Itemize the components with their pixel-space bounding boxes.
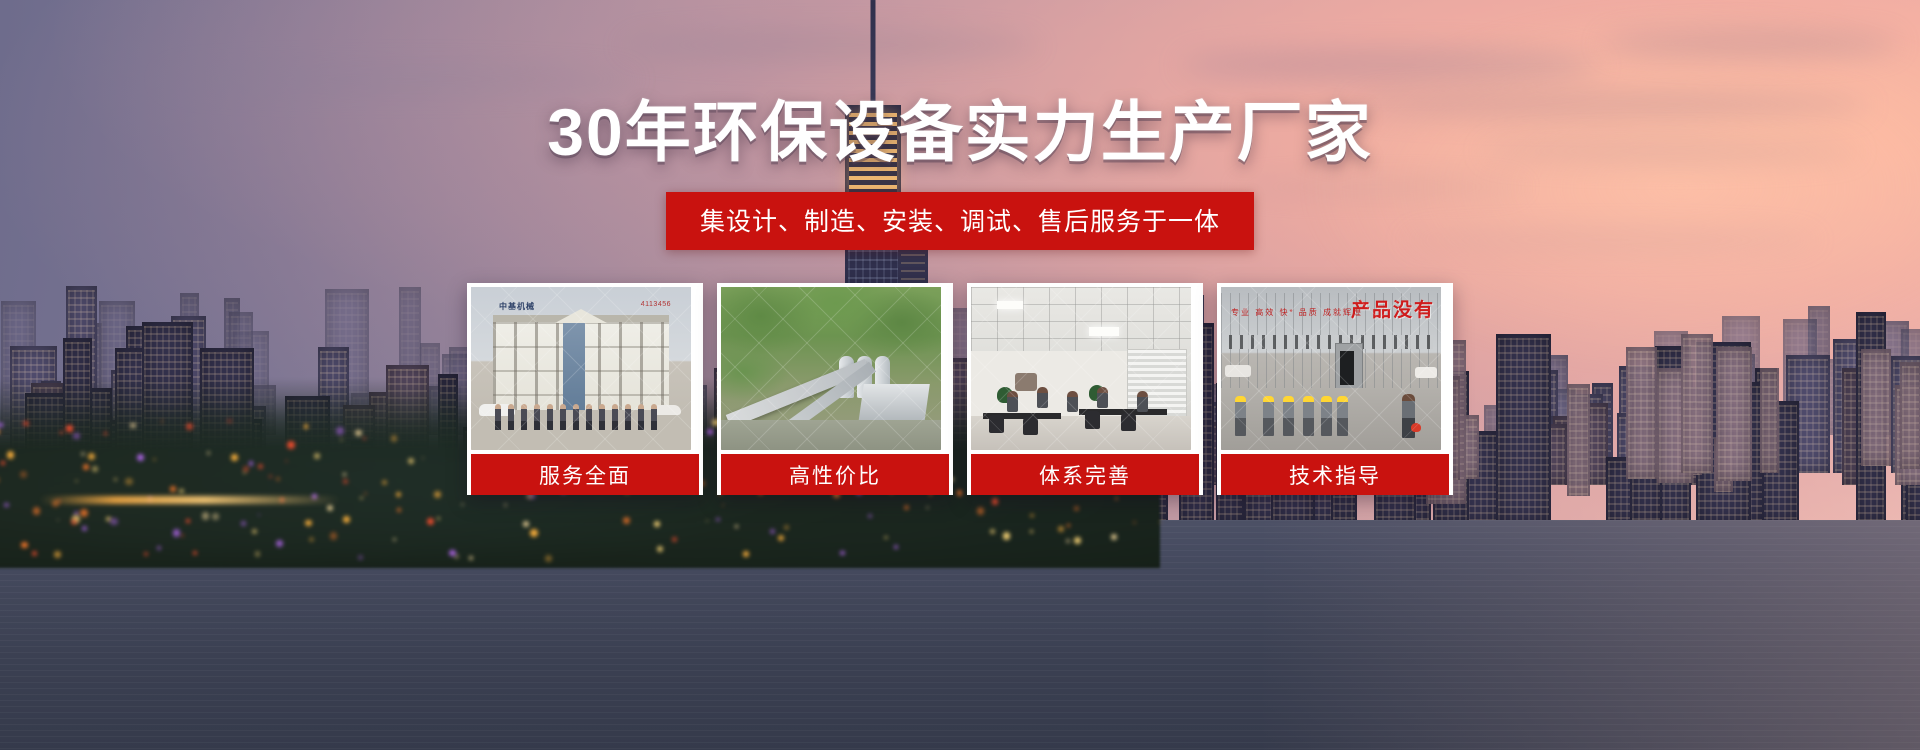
office-chair (989, 415, 1004, 433)
shore-light (241, 521, 245, 525)
shore-light (193, 551, 197, 555)
page-title: 30年环保设备实力生产厂家 (0, 99, 1920, 165)
staff-member (534, 404, 540, 430)
shore-light (355, 430, 362, 437)
shore-light (173, 529, 181, 537)
shore-light (358, 555, 363, 560)
shore-light (276, 477, 280, 481)
shore-light (530, 529, 538, 537)
red-helmet-icon (1411, 423, 1421, 432)
seated-person (1067, 391, 1078, 412)
feature-card-system[interactable]: 体系完善 (967, 283, 1203, 495)
seated-person (1037, 387, 1048, 408)
shore-light (743, 551, 749, 557)
shore-light (545, 555, 552, 562)
shore-light (71, 519, 77, 525)
parked-truck (1225, 365, 1251, 377)
shore-light (305, 520, 311, 526)
factory-vents (1229, 335, 1433, 349)
feature-card-value[interactable]: 高性价比 (717, 283, 953, 495)
shore-light (186, 423, 193, 430)
shore-light (330, 532, 338, 540)
shore-light (276, 540, 283, 547)
staff-member (560, 404, 566, 430)
cloud-streak (620, 30, 1040, 60)
shore-light (926, 506, 929, 509)
factory-doorway (1340, 351, 1354, 385)
skyline-building (1681, 334, 1713, 473)
shore-light (7, 451, 14, 458)
shore-light (623, 517, 630, 524)
shore-light (32, 551, 37, 556)
shore-light (21, 542, 28, 549)
shore-light (784, 525, 789, 530)
shore-light (57, 519, 59, 521)
shore-light (137, 454, 144, 461)
skyline-building (1496, 334, 1551, 525)
shore-light (66, 425, 72, 431)
staff-member (521, 404, 527, 430)
shore-light (340, 438, 343, 441)
factory-slogan-secondary: 专业 高效 快* 品质 成就辉煌 (1231, 307, 1363, 318)
shore-light (60, 431, 63, 434)
staff-member (495, 404, 501, 430)
card-label-service: 服务全面 (471, 454, 699, 495)
card-label-guidance: 技术指导 (1221, 454, 1449, 495)
shore-light (20, 471, 27, 478)
shore-light (840, 551, 845, 556)
staff-member (612, 404, 618, 430)
worker (1321, 396, 1332, 436)
shore-light (54, 551, 60, 557)
hero-banner: 30年环保设备实力生产厂家 集设计、制造、安装、调试、售后服务于一体 中基机械 … (0, 0, 1920, 750)
shore-light (422, 457, 424, 459)
staff-member (508, 404, 514, 430)
shore-light (427, 518, 434, 525)
shore-light (437, 517, 440, 520)
skyline-building (1861, 349, 1891, 466)
ceiling-light (997, 301, 1023, 309)
shore-light (391, 435, 398, 442)
shore-light (393, 538, 396, 541)
shore-light (73, 433, 79, 439)
subtitle-container: 集设计、制造、安装、调试、售后服务于一体 (0, 192, 1920, 250)
shore-light (894, 545, 898, 549)
shore-light (75, 480, 77, 482)
shore-light (1074, 537, 1081, 544)
worker (1337, 396, 1348, 436)
seated-person (1007, 391, 1018, 412)
feature-card-row: 中基机械 4113456 服务全面 (467, 283, 1453, 495)
feature-card-service[interactable]: 中基机械 4113456 服务全面 (467, 283, 703, 495)
shore-light (469, 556, 473, 560)
office-floor (971, 416, 1191, 450)
shore-light (360, 497, 363, 500)
shore-light (314, 453, 320, 459)
office-chair (1121, 413, 1136, 431)
shore-light (88, 453, 95, 460)
shore-light (722, 504, 724, 506)
staff-lineup (495, 400, 671, 430)
shore-light (992, 498, 999, 505)
worker (1303, 396, 1314, 436)
shore-light (706, 520, 709, 523)
shore-light (80, 509, 88, 517)
plant-yard (721, 420, 941, 450)
shore-light (144, 552, 148, 556)
shore-light (104, 432, 107, 435)
shore-light (0, 423, 3, 428)
shore-light (231, 454, 238, 461)
shore-light (397, 508, 401, 512)
cloud-streak (160, 66, 640, 92)
worker (1283, 396, 1294, 436)
water-sunset-reflection (1037, 520, 1920, 750)
shore-light (82, 526, 87, 531)
office-chair (1085, 411, 1100, 429)
shore-light (125, 478, 133, 486)
shore-light (434, 491, 441, 498)
shore-light (716, 518, 719, 521)
shore-light (396, 492, 401, 497)
shore-light (977, 507, 984, 514)
skyline-building (1900, 362, 1920, 469)
shore-light (33, 507, 40, 514)
card-label-value: 高性价比 (721, 454, 949, 495)
shore-light (523, 521, 529, 527)
staff-member (547, 404, 553, 430)
shore-light (884, 536, 888, 540)
staff-member (625, 404, 631, 430)
card-photo-office-building: 中基机械 4113456 (471, 287, 691, 450)
shore-light (343, 479, 348, 484)
shore-light (92, 466, 98, 472)
building-phone-text: 4113456 (641, 301, 671, 308)
shore-light (249, 461, 254, 466)
shore-light (382, 480, 387, 485)
shore-light (654, 521, 660, 527)
parked-truck (1415, 367, 1437, 378)
wall-decal-icon (1015, 373, 1037, 391)
shore-light (179, 489, 183, 493)
shore-light (343, 516, 350, 523)
shore-light (1030, 514, 1033, 517)
shore-light (1067, 524, 1070, 527)
shore-light (304, 424, 308, 428)
shore-light (343, 473, 346, 476)
skyline-building (1567, 384, 1590, 496)
shore-light (1074, 506, 1079, 511)
shore-light (83, 464, 89, 470)
skyline-building (1626, 347, 1657, 479)
card-photo-aerial-plant (721, 287, 941, 450)
shore-light (990, 529, 995, 534)
building-pediment (555, 309, 607, 323)
shore-light (161, 420, 164, 423)
staff-member (573, 404, 579, 430)
shore-light (504, 503, 507, 506)
shore-light (778, 535, 784, 541)
plant-hall (858, 384, 930, 424)
shore-light (258, 464, 263, 469)
shore-light (1003, 532, 1010, 539)
cloud-streak (1600, 30, 1900, 58)
shore-light (327, 505, 333, 511)
shore-light (408, 458, 414, 464)
shore-light (364, 492, 367, 495)
worker (1235, 396, 1246, 436)
shore-light (212, 513, 218, 519)
card-label-system: 体系完善 (971, 454, 1199, 495)
shore-light (1, 461, 5, 465)
subtitle-banner: 集设计、制造、安装、调试、售后服务于一体 (666, 192, 1254, 250)
office-chair (1023, 417, 1038, 435)
factory-slogan-primary: 产品没有 (1351, 295, 1435, 322)
shore-light (461, 503, 464, 506)
shore-light (868, 514, 872, 518)
shore-light (336, 427, 344, 435)
shore-light (255, 551, 261, 557)
shore-light (1111, 534, 1117, 540)
shore-light (81, 452, 85, 456)
shore-light (114, 478, 117, 481)
shore-light (243, 466, 249, 472)
seated-person (1097, 387, 1108, 408)
shore-light (672, 537, 677, 542)
shore-light (363, 437, 366, 440)
skyline-building (1716, 347, 1752, 481)
shore-light (770, 529, 775, 534)
staff-member (586, 404, 592, 430)
shore-light (285, 460, 287, 462)
shore-light (309, 537, 314, 542)
cloud-streak (1180, 48, 1600, 82)
building-sign-text: 中基机械 (499, 301, 535, 312)
shore-light (170, 486, 175, 491)
worker (1263, 396, 1274, 436)
card-photo-office-interior (971, 287, 1191, 450)
shore-light (1058, 526, 1064, 532)
shore-light (207, 451, 210, 454)
shore-light (1159, 521, 1161, 523)
seated-person (1137, 391, 1148, 412)
staff-member (638, 404, 644, 430)
shore-light (110, 518, 118, 526)
shore-light (735, 525, 737, 527)
shore-light (1030, 530, 1033, 533)
shore-light (153, 458, 157, 462)
shore-light (904, 505, 909, 510)
shore-light (657, 546, 663, 552)
shore-light (1115, 497, 1118, 500)
shore-light (202, 512, 210, 520)
shore-light (1066, 539, 1070, 543)
ceiling-light (1089, 327, 1119, 336)
shore-light (1133, 521, 1136, 524)
shore-light (157, 546, 161, 550)
staff-member (651, 404, 657, 430)
shore-light (4, 503, 8, 507)
tower-spire (871, 0, 876, 107)
shore-light (258, 514, 260, 516)
card-photo-factory-workers: 产品没有 专业 高效 快* 品质 成就辉煌 (1221, 287, 1441, 450)
lit-bridge (40, 496, 340, 504)
shore-light (181, 534, 184, 537)
shore-light (227, 419, 231, 423)
shore-light (23, 421, 28, 426)
skyline-building (1760, 368, 1779, 473)
shore-light (252, 529, 257, 534)
feature-card-guidance[interactable]: 产品没有 专业 高效 快* 品质 成就辉煌 技术指导 (1217, 283, 1453, 495)
shore-light (186, 519, 190, 523)
shore-light (130, 423, 136, 429)
office-ceiling (971, 287, 1191, 351)
staff-member (599, 404, 605, 430)
shore-light (269, 475, 271, 477)
shore-light (287, 441, 295, 449)
shore-light (449, 550, 456, 557)
